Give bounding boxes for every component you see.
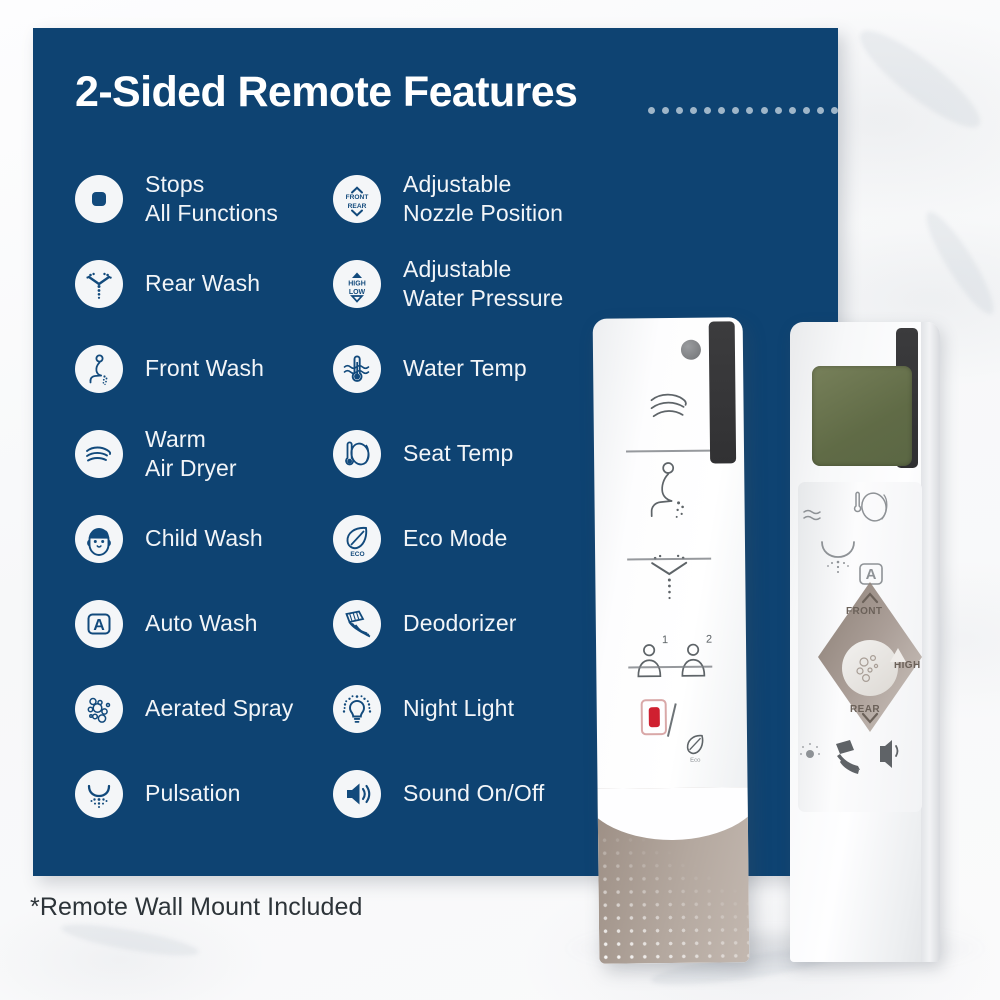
water-pressure-icon: HIGH LOW (333, 260, 381, 308)
remote-dot-texture (598, 832, 749, 964)
eco-leaf-icon: Eco (687, 736, 702, 764)
footnote-text: *Remote Wall Mount Included (30, 893, 363, 922)
stop-square-icon (75, 175, 123, 223)
user-preset-1-icon (638, 645, 660, 676)
night-light-icon (333, 685, 381, 733)
feature-aerated-spray[interactable]: Aerated Spray (75, 666, 365, 751)
feature-label: Night Light (403, 694, 514, 722)
feature-label: Eco Mode (403, 524, 507, 552)
front-wash-icon (75, 345, 123, 393)
back-button-face: A (798, 482, 922, 812)
svg-text:Eco: Eco (690, 758, 701, 764)
dpad-down-label: REAR (850, 704, 880, 715)
title-dot-decoration (648, 106, 838, 115)
remote-side-edge (921, 322, 940, 962)
nozzle-position-icon: FRONT REAR (333, 175, 381, 223)
warm-air-dryer-icon (651, 394, 686, 416)
pulsation-icon (75, 770, 123, 818)
rear-wash-icon (652, 555, 686, 600)
front-face-remote[interactable]: 1 2 Eco uspa (593, 317, 750, 964)
svg-text:LOW: LOW (349, 289, 366, 296)
feature-warm-air-dryer[interactable]: Warm Air Dryer (75, 411, 365, 496)
dpad-up-label: FRONT (846, 606, 882, 617)
feature-label: Adjustable Water Pressure (403, 255, 563, 312)
feature-label: Front Wash (145, 354, 264, 382)
feature-label: Adjustable Nozzle Position (403, 170, 563, 227)
back-face-remote[interactable]: A (790, 322, 940, 962)
feature-label: Aerated Spray (145, 694, 293, 722)
feature-label: Sound On/Off (403, 779, 544, 807)
auto-wash-icon: A (75, 600, 123, 648)
child-wash-icon (75, 515, 123, 563)
feature-auto-wash[interactable]: A Auto Wash (75, 581, 365, 666)
feature-adjustable-nozzle-position[interactable]: FRONT REAR Adjustable Nozzle Position (333, 156, 753, 241)
feature-label: Stops All Functions (145, 170, 278, 227)
feature-label: Deodorizer (403, 609, 517, 637)
feature-adjustable-water-pressure[interactable]: HIGH LOW Adjustable Water Pressure (333, 241, 753, 326)
front-face-icons: 1 2 Eco (593, 357, 748, 859)
feature-rear-wash[interactable]: Rear Wash (75, 241, 365, 326)
feature-label: Rear Wash (145, 269, 260, 297)
eco-mode-icon: ECO (333, 515, 381, 563)
page-title: 2-Sided Remote Features (75, 68, 577, 117)
remote-bottom-accent (598, 787, 750, 964)
svg-text:FRONT: FRONT (346, 194, 369, 201)
feature-pulsation[interactable]: Pulsation (75, 751, 365, 836)
feature-label: Warm Air Dryer (145, 425, 237, 482)
sound-onoff-icon (333, 770, 381, 818)
user-preset-2-icon (682, 644, 704, 675)
svg-text:A: A (866, 566, 877, 583)
feature-stops-all-functions[interactable]: Stops All Functions (75, 156, 365, 241)
feature-child-wash[interactable]: Child Wash (75, 496, 365, 581)
screenshot-stage: 2-Sided Remote Features Stops All Functi… (0, 0, 1000, 1000)
stop-button-icon[interactable] (641, 699, 667, 735)
water-temp-icon (333, 345, 381, 393)
user-preset-1-label: 1 (662, 634, 668, 646)
feature-label: Seat Temp (403, 439, 513, 467)
feature-column-left: Stops All Functions Rear Wash (75, 156, 365, 836)
feature-front-wash[interactable]: Front Wash (75, 326, 365, 411)
front-wash-spray (676, 501, 684, 518)
rear-wash-icon (75, 260, 123, 308)
feature-label: Pulsation (145, 779, 241, 807)
aerated-spray-icon (842, 640, 898, 696)
feature-label: Auto Wash (145, 609, 258, 637)
seat-temp-icon (333, 430, 381, 478)
deodorizer-icon (333, 600, 381, 648)
aerated-spray-icon (75, 685, 123, 733)
front-wash-icon (651, 463, 674, 516)
svg-text:A: A (93, 617, 105, 634)
user-preset-2-label: 2 (706, 634, 712, 646)
dpad-right-label: HIGH (894, 660, 921, 671)
svg-text:HIGH: HIGH (348, 280, 366, 287)
svg-text:REAR: REAR (348, 203, 367, 210)
warm-air-dryer-icon (75, 430, 123, 478)
lcd-screen (812, 366, 912, 466)
feature-label: Water Temp (403, 354, 527, 382)
feature-label: Child Wash (145, 524, 263, 552)
svg-text:ECO: ECO (350, 551, 364, 558)
